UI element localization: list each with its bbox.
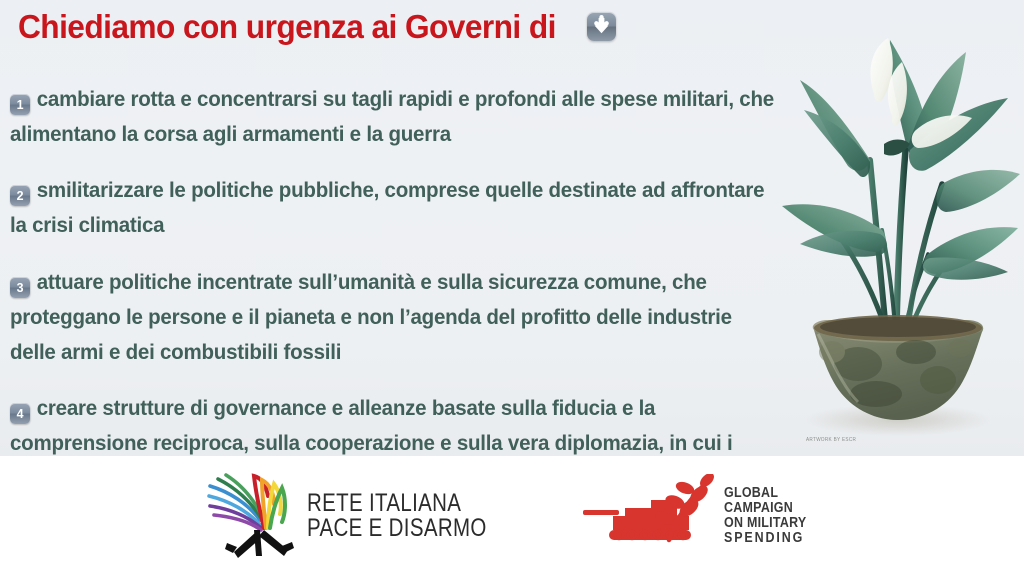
red-tank-with-branch-icon [583,474,719,558]
main-panel: Chiediamo con urgenza ai Governi di 1cam… [0,0,1024,456]
artwork-credit: ARTWORK BY ESCR [806,437,856,443]
claim-number-badge-4: 4 [10,403,30,424]
poster-canvas: Chiediamo con urgenza ai Governi di 1cam… [0,0,1024,576]
list-item: 3attuare politiche incentrate sull’umani… [10,265,810,370]
gcoms-line-2: CAMPAIGN [724,501,807,516]
claim-number-badge-3: 3 [10,277,30,298]
claim-number-badge-1: 1 [10,94,30,115]
claim-body-3: attuare politiche incentrate sull’umanit… [10,270,732,364]
footer-logos: RETE ITALIANA PACE E DISARMO [0,456,1024,576]
list-item: 4creare strutture di governance e allean… [10,391,810,456]
claim-text-2: 2smilitarizzare le politiche pubbliche, … [10,173,774,243]
gcoms-wordmark: GLOBAL CAMPAIGN ON MILITARY SPENDING [724,486,820,546]
peace-lily-in-helmet-artwork: ARTWORK BY ESCR [770,34,1024,456]
gcoms-line-3: ON MILITARY [724,516,807,531]
gcoms-line-1: GLOBAL [724,486,807,501]
down-arrow-icon [587,12,616,41]
claim-text-1: 1cambiare rotta e concentrarsi su tagli … [10,82,774,152]
list-item: 1cambiare rotta e concentrarsi su tagli … [10,82,810,152]
page-title-text: Chiediamo con urgenza ai Governi di [18,10,556,43]
claim-body-2: smilitarizzare le politiche pubbliche, c… [10,178,764,237]
claim-body-4: creare strutture di governance e alleanz… [10,396,732,456]
claim-text-3: 3attuare politiche incentrate sull’umani… [10,265,774,370]
page-title: Chiediamo con urgenza ai Governi di [18,10,616,43]
claim-number-badge-2: 2 [10,185,30,206]
logo-rete-italiana-pace-e-disarmo[interactable]: RETE ITALIANA PACE E DISARMO [204,470,526,562]
claims-list: 1cambiare rotta e concentrarsi su tagli … [10,60,810,456]
logo-global-campaign-on-military-spending[interactable]: GLOBAL CAMPAIGN ON MILITARY SPENDING [583,474,820,558]
claim-text-4: 4creare strutture di governance e allean… [10,391,774,456]
list-item: 2smilitarizzare le politiche pubbliche, … [10,173,810,243]
ripd-wordmark: RETE ITALIANA PACE E DISARMO [307,491,526,542]
claim-body-1: cambiare rotta e concentrarsi su tagli r… [10,87,774,146]
ripd-line-2: PACE E DISARMO [307,516,487,542]
ripd-line-1: RETE ITALIANA [307,491,487,517]
gcoms-line-4: SPENDING [724,531,807,546]
rainbow-broken-rifle-icon [204,470,296,562]
